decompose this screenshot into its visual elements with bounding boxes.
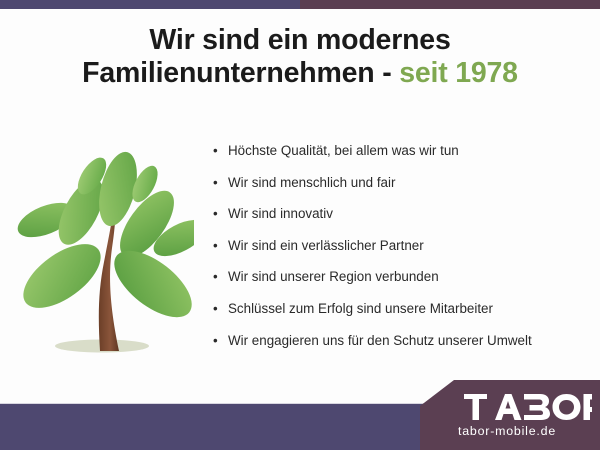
top-accent-bar-left-segment	[0, 0, 300, 9]
list-item: •Wir sind menschlich und fair	[210, 174, 595, 192]
list-item: •Wir sind innovativ	[210, 205, 595, 223]
bullet-marker: •	[213, 205, 218, 223]
slide-root: Wir sind ein modernes Familienunternehme…	[0, 0, 600, 450]
headline-line-2-plain: Familienunternehmen -	[82, 57, 399, 89]
bullet-marker: •	[213, 237, 218, 255]
list-item-label: Wir sind menschlich und fair	[228, 175, 395, 190]
list-item-label: Wir sind innovativ	[228, 206, 333, 221]
tree-graphic	[14, 132, 194, 367]
list-item-label: Wir engagieren uns für den Schutz unsere…	[228, 333, 532, 348]
headline-accent-year: seit 1978	[399, 57, 518, 89]
logo-panel[interactable]: tabor-mobile.de	[420, 380, 600, 450]
list-item: •Wir sind unserer Region verbunden	[210, 268, 595, 286]
list-item-label: Wir sind ein verlässlicher Partner	[228, 238, 424, 253]
list-item-label: Höchste Qualität, bei allem was wir tun	[228, 143, 459, 158]
bullet-marker: •	[213, 300, 218, 318]
bullet-marker: •	[213, 268, 218, 286]
top-accent-bar	[0, 0, 600, 9]
bullet-marker: •	[213, 332, 218, 350]
headline-line-1: Wir sind ein modernes	[0, 24, 600, 57]
list-item-label: Wir sind unserer Region verbunden	[228, 269, 439, 284]
list-item: •Höchste Qualität, bei allem was wir tun	[210, 142, 595, 160]
value-list: •Höchste Qualität, bei allem was wir tun…	[210, 142, 595, 363]
bullet-marker: •	[213, 142, 218, 160]
list-item-label: Schlüssel zum Erfolg sind unsere Mitarbe…	[228, 301, 493, 316]
list-item: •Wir sind ein verlässlicher Partner	[210, 237, 595, 255]
headline-line-2: Familienunternehmen - seit 1978	[0, 57, 600, 90]
tabor-wordmark-icon	[464, 394, 592, 420]
list-item: •Wir engagieren uns für den Schutz unser…	[210, 332, 595, 350]
logo-inner: tabor-mobile.de	[420, 380, 600, 450]
list-item: •Schlüssel zum Erfolg sind unsere Mitarb…	[210, 300, 595, 318]
bullet-marker: •	[213, 174, 218, 192]
top-accent-bar-right-segment	[300, 0, 600, 9]
page-title: Wir sind ein modernes Familienunternehme…	[0, 24, 600, 90]
logo-subtitle: tabor-mobile.de	[420, 424, 600, 438]
